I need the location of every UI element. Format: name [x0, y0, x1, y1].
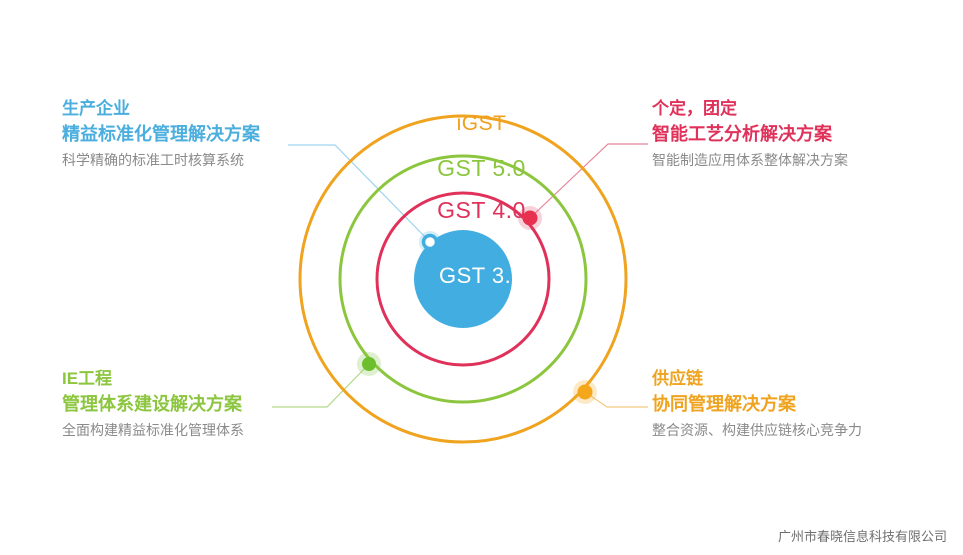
blue-node-icon[interactable] [424, 236, 437, 249]
callout-top-right-kicker: 个定，团定 [652, 96, 848, 121]
diagram-canvas: iGST GST 5.0 GST 4.0 GST 3.0 生产企业 精益标准化管… [0, 0, 963, 555]
footer-company-name: 广州市春晓信息科技有限公司 [778, 526, 947, 545]
callout-bottom-left: IE工程 管理体系建设解决方案 全面构建精益标准化管理体系 [62, 366, 244, 442]
callout-bottom-right: 供应链 协同管理解决方案 整合资源、构建供应链核心竞争力 [652, 366, 862, 442]
callout-bottom-right-kicker: 供应链 [652, 366, 862, 391]
ring-label-gst-3: GST 3.0 [0, 263, 963, 289]
callout-bottom-right-headline: 协同管理解决方案 [652, 391, 862, 418]
callout-bottom-left-sub: 全面构建精益标准化管理体系 [62, 418, 244, 442]
callout-top-left-sub: 科学精确的标准工时核算系统 [62, 148, 260, 172]
callout-top-left-kicker: 生产企业 [62, 96, 260, 121]
green-node-icon[interactable] [362, 357, 376, 371]
ring-label-gst-4: GST 4.0 [0, 197, 963, 224]
callout-bottom-right-sub: 整合资源、构建供应链核心竞争力 [652, 418, 862, 442]
callout-bottom-left-kicker: IE工程 [62, 366, 244, 391]
callout-top-right-sub: 智能制造应用体系整体解决方案 [652, 148, 848, 172]
callout-bottom-left-headline: 管理体系建设解决方案 [62, 391, 244, 418]
callout-top-left: 生产企业 精益标准化管理解决方案 科学精确的标准工时核算系统 [62, 96, 260, 172]
callout-top-right-headline: 智能工艺分析解决方案 [652, 121, 848, 148]
orange-node-icon[interactable] [578, 385, 593, 400]
callout-top-right: 个定，团定 智能工艺分析解决方案 智能制造应用体系整体解决方案 [652, 96, 848, 172]
callout-top-left-headline: 精益标准化管理解决方案 [62, 121, 260, 148]
